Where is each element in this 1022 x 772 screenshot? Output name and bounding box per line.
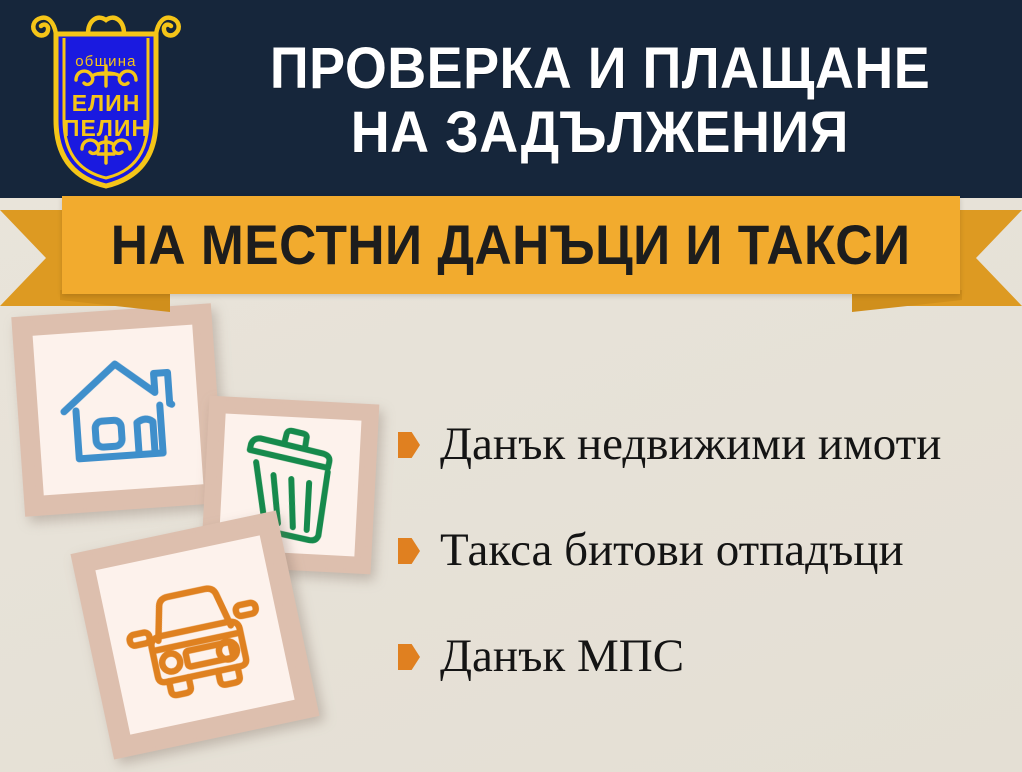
bullet-arrow-icon: [398, 644, 420, 670]
bullet-arrow-icon: [398, 432, 420, 458]
svg-text:ПЕЛИН: ПЕЛИН: [63, 115, 149, 141]
stamp-cards-group: [0, 300, 420, 772]
subtitle-ribbon: НА МЕСТНИ ДАНЪЦИ И ТАКСИ: [0, 196, 1022, 316]
scallop-border-house: [11, 303, 224, 516]
title-line-2: НА ЗАДЪЛЖЕНИЯ: [351, 101, 849, 165]
list-item: Такса битови отпадъци: [398, 524, 1018, 576]
svg-text:ЕЛИН: ЕЛИН: [72, 90, 141, 116]
list-item: Данък недвижими имоти: [398, 418, 1018, 470]
title-line-1: ПРОВЕРКА И ПЛАЩАНЕ: [270, 37, 930, 101]
stamp-card-vehicle: [70, 510, 319, 759]
tax-types-list: Данък недвижими имоти Такса битови отпад…: [398, 418, 1018, 736]
svg-text:община: община: [75, 53, 136, 70]
list-item: Данък МПС: [398, 630, 1018, 682]
scallop-border-car: [70, 510, 319, 759]
header-banner: община ЕЛИН ПЕЛИН ПРОВЕРКА И ПЛАЩАНЕ НА …: [0, 0, 1022, 198]
list-item-label: Данък недвижими имоти: [440, 418, 941, 470]
ribbon-main-panel: НА МЕСТНИ ДАНЪЦИ И ТАКСИ: [62, 196, 960, 294]
bullet-arrow-icon: [398, 538, 420, 564]
ribbon-label: НА МЕСТНИ ДАНЪЦИ И ТАКСИ: [111, 216, 911, 274]
page-title: ПРОВЕРКА И ПЛАЩАНЕ НА ЗАДЪЛЖЕНИЯ: [190, 16, 1010, 186]
coat-of-arms: община ЕЛИН ПЕЛИН: [26, 8, 186, 190]
list-item-label: Данък МПС: [440, 630, 684, 682]
stamp-card-property: [11, 303, 224, 516]
house-icon: [61, 360, 175, 459]
list-item-label: Такса битови отпадъци: [440, 524, 904, 576]
car-front-icon: [122, 579, 270, 702]
